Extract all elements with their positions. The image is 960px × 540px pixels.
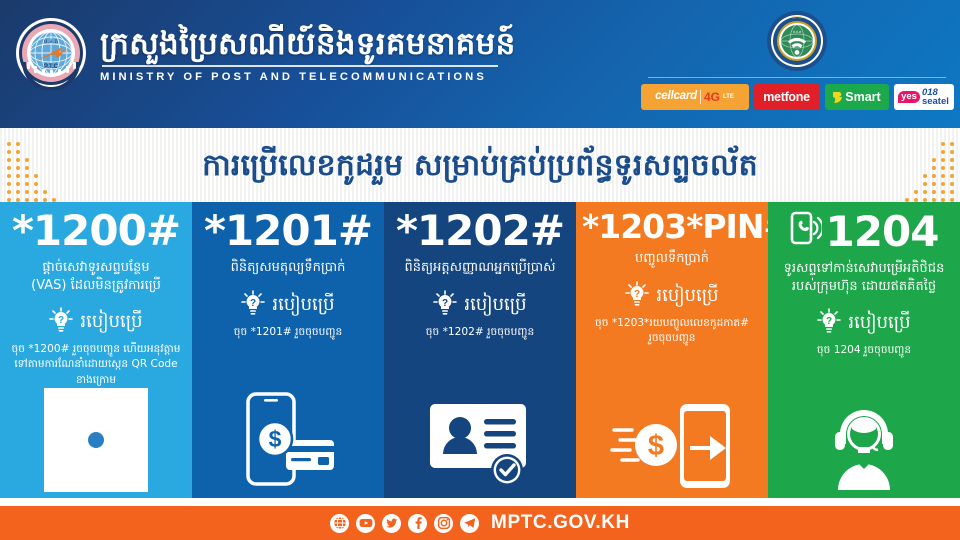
- howto-steps-1203: ចុច *1203*រយបញ្ចូលលេខកូដកាត#រួចចុចបញ្ជូន: [582, 316, 762, 347]
- youtube-icon[interactable]: [356, 514, 375, 533]
- website-url[interactable]: MPTC.GOV.KH: [491, 512, 630, 534]
- howto-header-1202: ? របៀបប្រើ: [390, 290, 570, 320]
- lightbulb-question-icon: ?: [433, 290, 457, 320]
- svg-text:?: ?: [250, 298, 256, 309]
- call-center-agent-icon: [818, 398, 910, 492]
- howto-header-1203: ? របៀបប្រើ: [582, 281, 762, 311]
- seatel-yes-label: yes: [898, 91, 920, 103]
- howto-steps-1201: ចុច *1201# រួចចុចបញ្ជូន: [198, 325, 378, 340]
- footer-bar: MPTC.GOV.KH: [0, 506, 960, 540]
- howto-header-1204: ? របៀបប្រើ: [774, 308, 954, 338]
- twitter-icon[interactable]: [382, 514, 401, 533]
- howto-steps-1202: ចុច *1202# រួចចុចបញ្ជូន: [390, 325, 570, 340]
- carrier-logo-cellcard: cellcard 4G LTE: [641, 84, 749, 110]
- cellcard-lte-tag: LTE: [723, 94, 734, 100]
- service-description-1201: ពិនិត្យសមតុល្យទឹកប្រាក់: [198, 259, 378, 277]
- service-columns: *1200# ផ្ដាច់សេវាទូរសព្ទបន្ថែម(VAS) ដែលម…: [0, 202, 960, 498]
- column-artwork-1204: [768, 398, 960, 492]
- cellcard-4g-tag: 4G: [704, 91, 720, 103]
- svg-text:ប.ទ.គ: ប.ទ.គ: [44, 39, 58, 45]
- lightbulb-question-icon: ?: [49, 307, 73, 337]
- column-artwork-1202: [384, 396, 576, 492]
- smart-label: Smart: [845, 91, 880, 104]
- svg-text:$: $: [269, 426, 282, 452]
- column-artwork-1200: [0, 388, 192, 492]
- cellcard-separator: [700, 90, 701, 104]
- page-title: ការប្រើលេខកូដរួម សម្រាប់គ្រប់ប្រព័ន្ធទូរ…: [202, 149, 758, 182]
- svg-text:$: $: [648, 430, 664, 462]
- service-description-1204: ទូរសព្ទទៅកាន់សេវាបម្រើអតិថិជនរបស់ក្រុមហ៊…: [774, 260, 954, 295]
- service-description-1202: ពិនិត្យអត្តសញ្ញាណអ្នកប្រើប្រាស់: [390, 259, 570, 277]
- howto-label-1203: របៀបប្រើ: [656, 287, 718, 305]
- smart-leaf-icon: [832, 91, 843, 104]
- howto-label-1202: របៀបប្រើ: [464, 296, 526, 314]
- header-divider: [648, 77, 946, 78]
- infographic-poster: ប.ទ.គ P.T.C ក្រសួងប្រៃសណីយ៍និងទូរគមនាគមន…: [0, 0, 960, 540]
- howto-label-1201: របៀបប្រើ: [272, 296, 334, 314]
- ussd-code-1203: *1203*PIN#: [582, 210, 762, 243]
- howto-header-1201: ? របៀបប្រើ: [198, 290, 378, 320]
- svg-text:?: ?: [442, 298, 448, 309]
- ministry-title-khmer: ក្រសួងប្រៃសណីយ៍និងទូរគមនាគមន៍: [100, 27, 516, 63]
- globe-icon[interactable]: [330, 514, 349, 533]
- howto-header-1200: ? របៀបប្រើ: [6, 307, 186, 337]
- service-column-1204[interactable]: 1204 ទូរសព្ទទៅកាន់សេវាបម្រើអតិថិជនរបស់ក្…: [768, 202, 960, 498]
- mptc-wifi-seal-icon: ប.ទ.គ MPTC: [766, 10, 828, 72]
- ministry-title-english: MINISTRY OF POST AND TELECOMMUNICATIONS: [100, 71, 516, 83]
- id-card-verified-icon: [424, 396, 536, 492]
- carrier-logo-metfone: metfone: [754, 84, 820, 110]
- cellcard-label: cellcard: [655, 91, 697, 103]
- service-column-1201[interactable]: *1201# ពិនិត្យសមតុល្យទឹកប្រាក់ ?: [192, 202, 384, 498]
- svg-text:?: ?: [826, 316, 832, 327]
- ussd-code-1202: *1202#: [390, 210, 570, 252]
- facebook-icon[interactable]: [408, 514, 427, 533]
- telegram-icon[interactable]: [460, 514, 479, 533]
- ussd-code-1201: *1201#: [198, 210, 378, 252]
- title-divider: [102, 65, 498, 67]
- carrier-logo-seatel: yes 018 seatel: [894, 84, 954, 110]
- ussd-code-row-1204: 1204: [774, 210, 954, 253]
- header-branding: ប.ទ.គ P.T.C ក្រសួងប្រៃសណីយ៍និងទូរគមនាគមន…: [14, 16, 516, 90]
- service-column-1203[interactable]: *1203*PIN# បញ្ចូលទឹកប្រាក់ ?: [576, 202, 768, 498]
- header-bar: ប.ទ.គ P.T.C ក្រសួងប្រៃសណីយ៍និងទូរគមនាគមន…: [0, 0, 960, 128]
- service-column-1202[interactable]: *1202# ពិនិត្យអត្តសញ្ញាណអ្នកប្រើប្រាស់ ?: [384, 202, 576, 498]
- decorative-dots-left: [4, 138, 58, 202]
- carrier-logo-row: cellcard 4G LTE metfone Smart yes: [640, 84, 954, 110]
- svg-text:?: ?: [58, 315, 64, 326]
- howto-steps-1204: ចុច 1204 រួចចុចបញ្ជូន: [774, 343, 954, 358]
- money-transfer-phone-icon: $: [610, 400, 734, 492]
- ussd-code-1200: *1200#: [6, 210, 186, 252]
- column-artwork-1201: $: [192, 388, 384, 492]
- column-artwork-1203: $: [576, 400, 768, 492]
- title-banner: ការប្រើលេខកូដរួម សម្រាប់គ្រប់ប្រព័ន្ធទូរ…: [0, 128, 960, 202]
- seatel-name-label: seatel: [922, 97, 949, 107]
- howto-label-1200: របៀបប្រើ: [80, 313, 142, 331]
- phone-credit-card-icon: $: [234, 388, 342, 492]
- decorative-dots-right: [902, 138, 956, 202]
- metfone-label: metfone: [763, 91, 810, 104]
- svg-text:MPTC: MPTC: [792, 16, 802, 20]
- qr-code-icon[interactable]: [44, 388, 148, 492]
- svg-text:ប.ទ.គ: ប.ទ.គ: [793, 30, 802, 34]
- service-column-1200[interactable]: *1200# ផ្ដាច់សេវាទូរសព្ទបន្ថែម(VAS) ដែលម…: [0, 202, 192, 498]
- svg-text:?: ?: [634, 289, 640, 300]
- howto-steps-1200: ចុច *1200# រួចចុចបញ្ជូន ហើយអនុវត្តាមទៅតា…: [6, 342, 186, 388]
- header-right-group: ប.ទ.គ MPTC cellcard 4G LTE metfone: [640, 10, 954, 110]
- lightbulb-question-icon: ?: [241, 290, 265, 320]
- svg-text:P.T.C: P.T.C: [44, 64, 59, 70]
- howto-label-1204: របៀបប្រើ: [848, 314, 910, 332]
- ussd-code-1204: 1204: [826, 211, 939, 253]
- lightbulb-question-icon: ?: [817, 308, 841, 338]
- service-description-1203: បញ្ចូលទឹកប្រាក់: [582, 250, 762, 268]
- mptc-emblem-icon: ប.ទ.គ P.T.C: [14, 16, 88, 90]
- service-description-1200: ផ្ដាច់សេវាទូរសព្ទបន្ថែម(VAS) ដែលមិនត្រូវ…: [6, 259, 186, 294]
- footer-top-strip: [0, 498, 960, 506]
- carrier-logo-smart: Smart: [825, 84, 889, 110]
- phone-ringing-icon: [790, 210, 822, 253]
- lightbulb-question-icon: ?: [625, 281, 649, 311]
- qr-center-logo: [85, 429, 107, 451]
- instagram-icon[interactable]: [434, 514, 453, 533]
